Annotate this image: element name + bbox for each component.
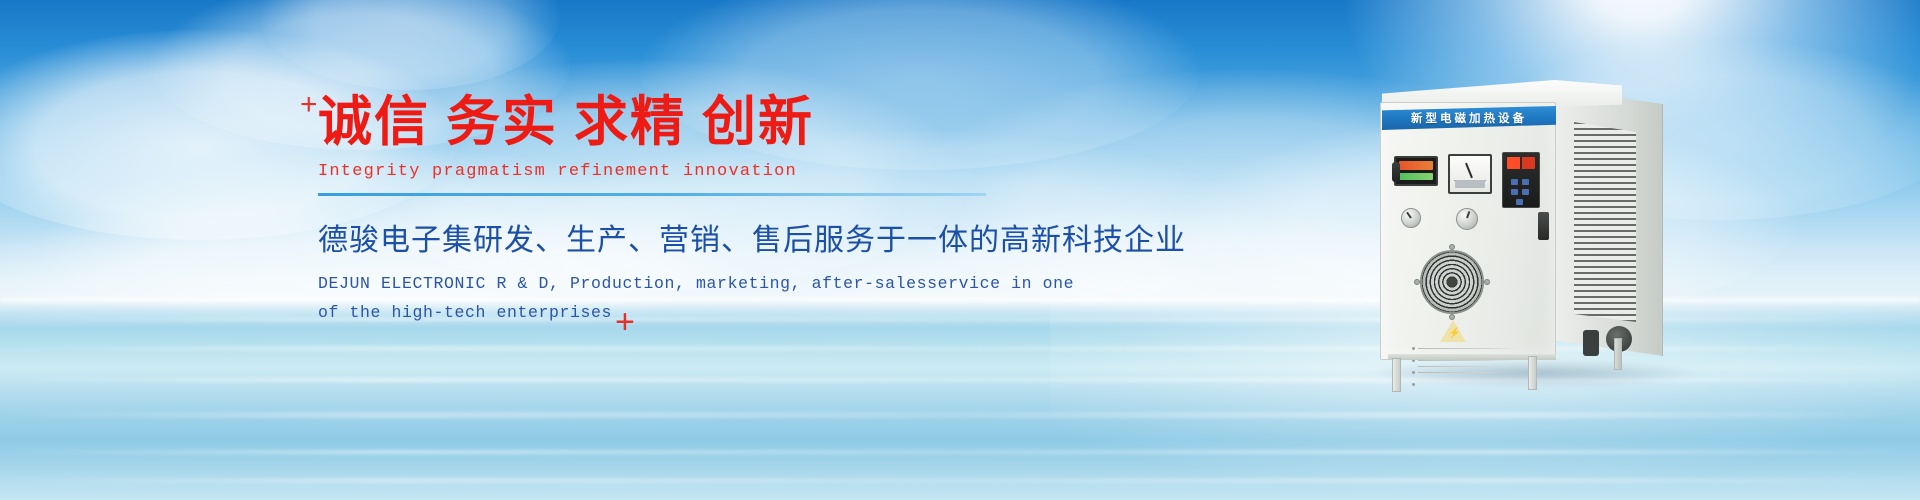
spec-bullet — [1412, 383, 1415, 386]
headline-chinese: 诚信务实求精创新 — [318, 92, 1038, 152]
headline-word-2: 务实 — [446, 92, 558, 152]
spec-line — [1418, 366, 1498, 367]
spec-line — [1418, 372, 1508, 373]
product-machine-image: 新型电磁加热设备 — [1378, 62, 1678, 372]
spec-line — [1418, 348, 1518, 349]
divider-rule — [318, 193, 986, 196]
subline-chinese: 德骏电子集研发、生产、营销、售后服务于一体的高新科技企业 — [318, 215, 1038, 259]
keypad-display — [1507, 157, 1535, 169]
meter-scale — [1455, 180, 1485, 188]
machine-analog-meter — [1448, 154, 1492, 194]
machine-spec-plate — [1418, 348, 1518, 378]
subline-english-line-2: of the high-tech enterprises — [318, 299, 1038, 328]
machine-door-latch — [1538, 212, 1549, 240]
keypad-button — [1522, 179, 1529, 185]
display-segment-row — [1399, 161, 1433, 170]
keypad-button — [1511, 179, 1518, 185]
knob-indicator — [1406, 212, 1412, 219]
machine-vent-grille — [1574, 122, 1636, 322]
subline-english-block: DEJUN ELECTRONIC R & D, Production, mark… — [318, 270, 1038, 328]
headline-word-3: 求精 — [574, 92, 686, 152]
keypad-button — [1516, 199, 1523, 205]
machine-front-panel — [1380, 102, 1556, 360]
headline-word-4: 创新 — [702, 92, 814, 152]
hero-banner: + + 诚信务实求精创新 Integrity pragmatism refine… — [0, 0, 1920, 500]
machine-keypad-panel — [1502, 152, 1540, 208]
warning-bolt-icon: ⚡ — [1448, 328, 1460, 339]
machine-digital-display — [1394, 156, 1438, 186]
machine-fan-grille — [1420, 250, 1484, 314]
fan-screw — [1449, 244, 1455, 250]
keypad-button — [1511, 189, 1518, 195]
knob-indicator — [1466, 211, 1470, 218]
fan-screw — [1414, 279, 1420, 285]
headline-english: Integrity pragmatism refinement innovati… — [318, 162, 1038, 181]
spec-bullet — [1412, 347, 1415, 350]
banner-copy-block: 诚信务实求精创新 Integrity pragmatism refinement… — [318, 92, 1038, 328]
headline-word-1: 诚信 — [318, 92, 430, 152]
machine-knob-left — [1401, 208, 1421, 228]
display-segment-row — [1399, 173, 1433, 180]
plus-decoration-top: + — [300, 90, 318, 120]
spec-bullet — [1412, 371, 1415, 374]
subline-english-line-1: DEJUN ELECTRONIC R & D, Production, mark… — [318, 270, 1038, 299]
fan-screw — [1484, 279, 1490, 285]
machine-side-port — [1583, 330, 1599, 356]
machine-leg — [1614, 338, 1622, 370]
keypad-button — [1522, 189, 1529, 195]
spec-line — [1418, 360, 1512, 361]
machine-leg — [1392, 358, 1401, 392]
machine-leg — [1528, 356, 1537, 390]
machine-side-handle — [1392, 162, 1400, 182]
machine-knob-right — [1456, 208, 1478, 230]
